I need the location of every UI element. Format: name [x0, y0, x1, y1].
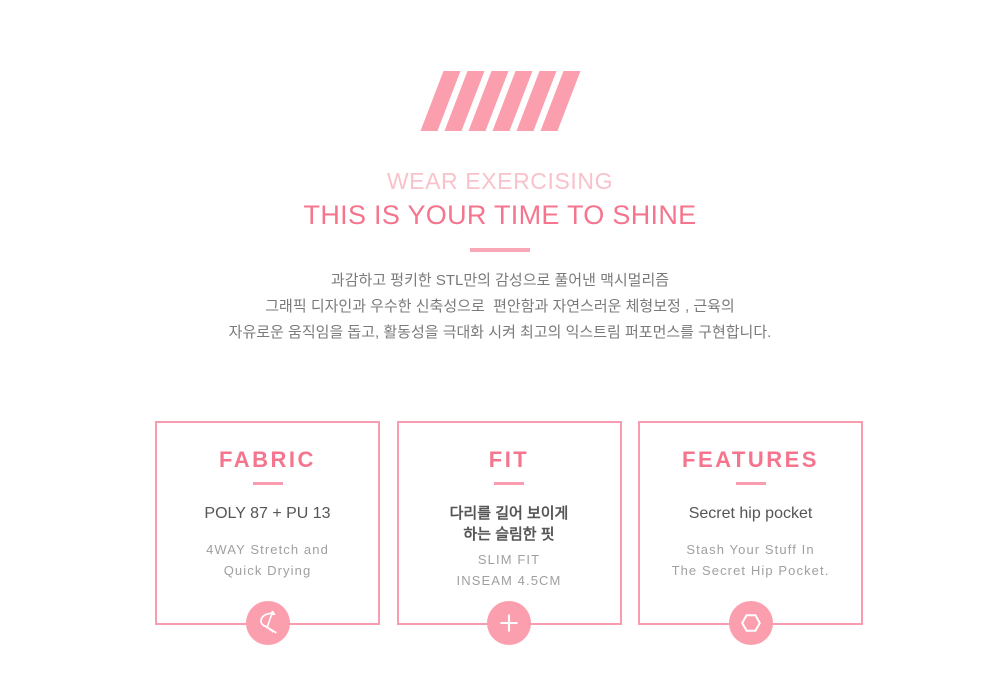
description-line: 그래픽 디자인과 우수한 신축성으로 편안함과 자연스러운 체형보정 , 근육의 [0, 294, 1000, 320]
hexagon-icon [729, 601, 773, 645]
card-features: FEATURES Secret hip pocket Stash Your St… [638, 421, 863, 625]
card-title: FABRIC [157, 447, 378, 473]
card-sub-line: Quick Drying [157, 560, 378, 581]
description-line: 자유로운 움직임을 돕고, 활동성을 극대화 시켜 최고의 익스트림 퍼포먼스를… [0, 320, 1000, 346]
card-fabric: FABRIC POLY 87 + PU 13 4WAY Stretch and … [155, 421, 380, 625]
card-title: FEATURES [640, 447, 861, 473]
needle-thread-icon [246, 601, 290, 645]
headline-divider [470, 248, 530, 252]
headline-block: WEAR EXERCISING THIS IS YOUR TIME TO SHI… [0, 166, 1000, 252]
card-title-divider [253, 482, 283, 485]
card-title-divider [736, 482, 766, 485]
brand-logo [0, 71, 1000, 131]
card-main-text: POLY 87 + PU 13 [157, 503, 378, 525]
feature-cards: FABRIC POLY 87 + PU 13 4WAY Stretch and … [155, 421, 863, 625]
card-sub-text: SLIM FIT INSEAM 4.5CM [399, 549, 620, 591]
card-main-line: 다리를 길어 보이게 [399, 503, 620, 524]
description-line: 과감하고 펑키한 STL만의 감성으로 풀어낸 맥시멀리즘 [0, 268, 1000, 294]
plus-icon [487, 601, 531, 645]
card-sub-line: The Secret Hip Pocket. [640, 560, 861, 581]
card-title: FIT [399, 447, 620, 473]
card-sub-line: INSEAM 4.5CM [399, 570, 620, 591]
card-sub-line: 4WAY Stretch and [157, 539, 378, 560]
card-sub-text: 4WAY Stretch and Quick Drying [157, 539, 378, 581]
card-sub-text: Stash Your Stuff In The Secret Hip Pocke… [640, 539, 861, 581]
card-main-text: 다리를 길어 보이게 하는 슬림한 핏 [399, 503, 620, 545]
card-main-line: 하는 슬림한 핏 [399, 524, 620, 545]
card-sub-line: Stash Your Stuff In [640, 539, 861, 560]
card-main-text: Secret hip pocket [640, 503, 861, 525]
description-block: 과감하고 펑키한 STL만의 감성으로 풀어낸 맥시멀리즘 그래픽 디자인과 우… [0, 268, 1000, 346]
card-sub-line: SLIM FIT [399, 549, 620, 570]
page-title: THIS IS YOUR TIME TO SHINE [0, 198, 1000, 232]
card-title-divider [494, 482, 524, 485]
card-fit: FIT 다리를 길어 보이게 하는 슬림한 핏 SLIM FIT INSEAM … [397, 421, 622, 625]
eyebrow-text: WEAR EXERCISING [0, 166, 1000, 197]
